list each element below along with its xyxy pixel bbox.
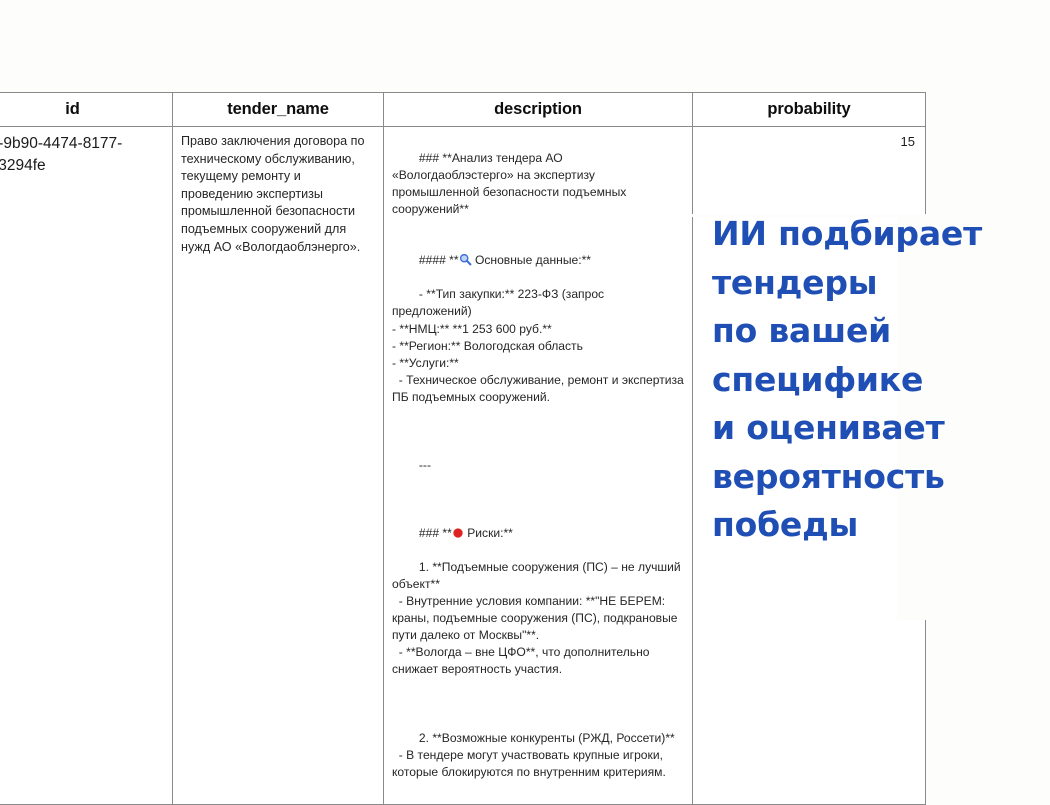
- description-risks-prefix: ### **: [419, 526, 452, 540]
- headline-line: победы: [712, 501, 1042, 550]
- red-circle-icon: [452, 527, 464, 539]
- cell-description: ### **Анализ тендера АО «Вологдаоблэстер…: [384, 127, 693, 805]
- cell-tender-name: Право заключения договора по техническом…: [173, 127, 384, 805]
- description-analysis-heading: ### **Анализ тендера АО «Вологдаоблэстер…: [392, 151, 630, 216]
- description-risk-item-1: 1. **Подъемные сооружения (ПС) – не лучш…: [392, 560, 684, 676]
- description-key-data-list: - **Тип закупки:** 223-ФЗ (запрос предло…: [392, 287, 687, 403]
- column-header-id[interactable]: id: [0, 93, 173, 127]
- column-header-tender-name[interactable]: tender_name: [173, 93, 384, 127]
- marketing-headline: ИИ подбирает тендеры по вашей специфике …: [712, 210, 1042, 550]
- headline-line: ИИ подбирает: [712, 210, 1042, 259]
- description-key-data-suffix: Основные данные:**: [472, 253, 591, 267]
- headline-line: и оценивает: [712, 404, 1042, 453]
- cell-id: e3-9b90-4474-8177- ab3294fe: [0, 127, 173, 805]
- headline-line: вероятность: [712, 453, 1042, 502]
- headline-line: тендеры: [712, 259, 1042, 308]
- magnifier-icon: [459, 253, 472, 266]
- headline-line: по вашей: [712, 307, 1042, 356]
- description-risks-suffix: Риски:**: [464, 526, 513, 540]
- column-header-probability[interactable]: probability: [693, 93, 926, 127]
- description-risk-item-2: 2. **Возможные конкуренты (РЖД, Россети)…: [392, 731, 675, 779]
- description-divider: ---: [419, 458, 431, 472]
- description-key-data-prefix: #### **: [419, 253, 459, 267]
- table-header-row: id tender_name description probability: [0, 93, 926, 127]
- column-header-description[interactable]: description: [384, 93, 693, 127]
- headline-line: специфике: [712, 356, 1042, 405]
